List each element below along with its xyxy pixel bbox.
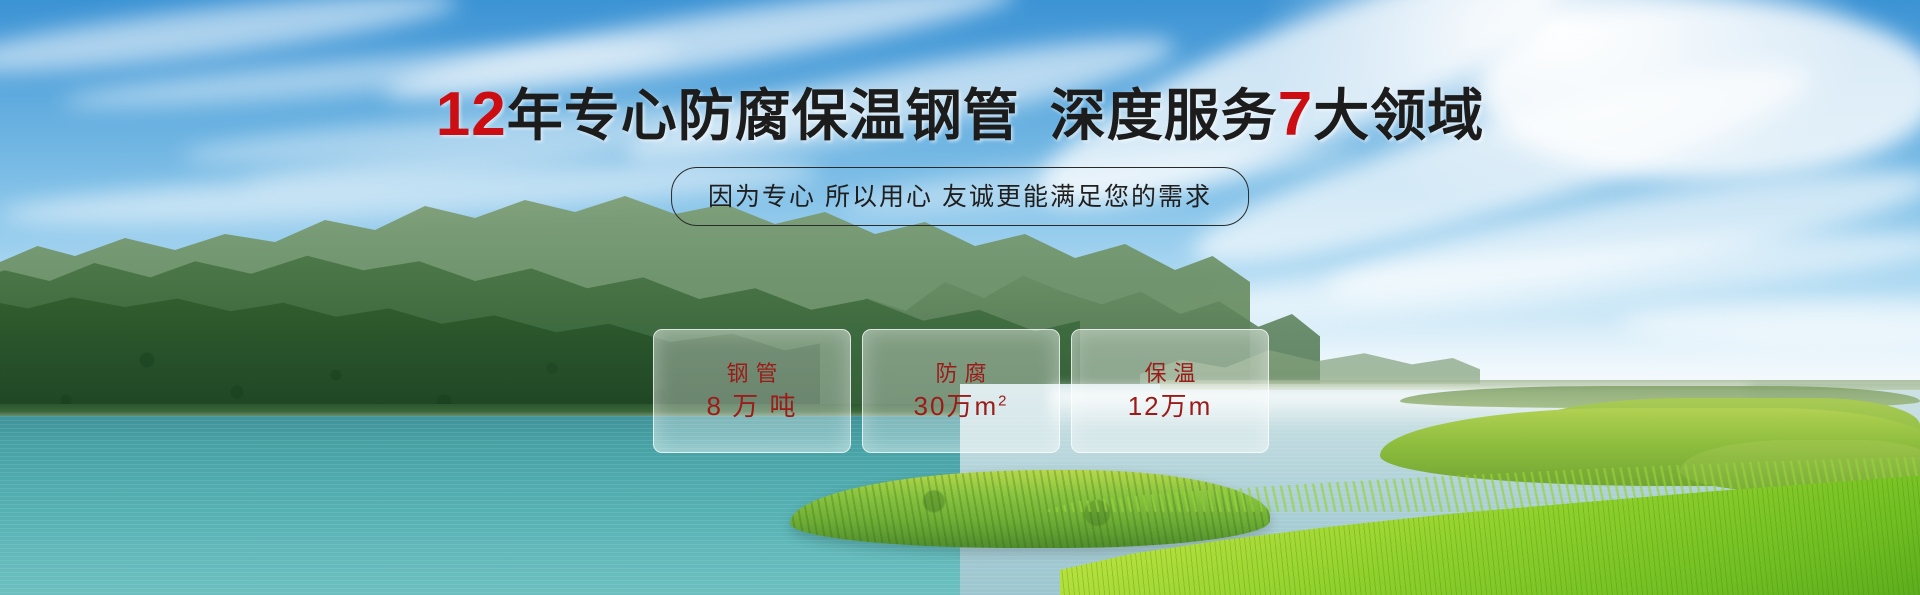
stat-card-label: 钢管 xyxy=(719,363,784,385)
stat-card-label: 保温 xyxy=(1137,363,1202,385)
stat-card-superscript: 2 xyxy=(998,392,1008,409)
headline-part-2: 深度服务 xyxy=(1050,84,1278,147)
stat-card-label: 防腐 xyxy=(928,363,993,385)
stat-card-insulation[interactable]: 保温 12万m xyxy=(1071,329,1269,453)
stat-card-group: 钢管 8 万 吨 防腐 30万m2 保温 12万m xyxy=(653,329,1269,453)
stat-card-value: 12万m xyxy=(1128,393,1213,419)
stat-card-anticorrosion[interactable]: 防腐 30万m2 xyxy=(862,329,1060,453)
hero-banner: 12年专心防腐保温钢管深度服务7大领域 因为专心 所以用心 友诚更能满足您的需求… xyxy=(0,0,1920,595)
headline-part-3: 大领域 xyxy=(1313,84,1484,147)
subtitle-pill: 因为专心 所以用心 友诚更能满足您的需求 xyxy=(671,167,1249,226)
headline-accent-seven: 7 xyxy=(1278,80,1313,149)
stat-card-value: 8 万 吨 xyxy=(707,393,798,419)
headline-accent-years: 12 xyxy=(436,80,507,149)
headline: 12年专心防腐保温钢管深度服务7大领域 xyxy=(0,84,1920,146)
headline-part-1: 年专心防腐保温钢管 xyxy=(507,84,1020,147)
stat-card-value: 30万m2 xyxy=(914,393,1009,419)
stat-card-steel-pipe[interactable]: 钢管 8 万 吨 xyxy=(653,329,851,453)
